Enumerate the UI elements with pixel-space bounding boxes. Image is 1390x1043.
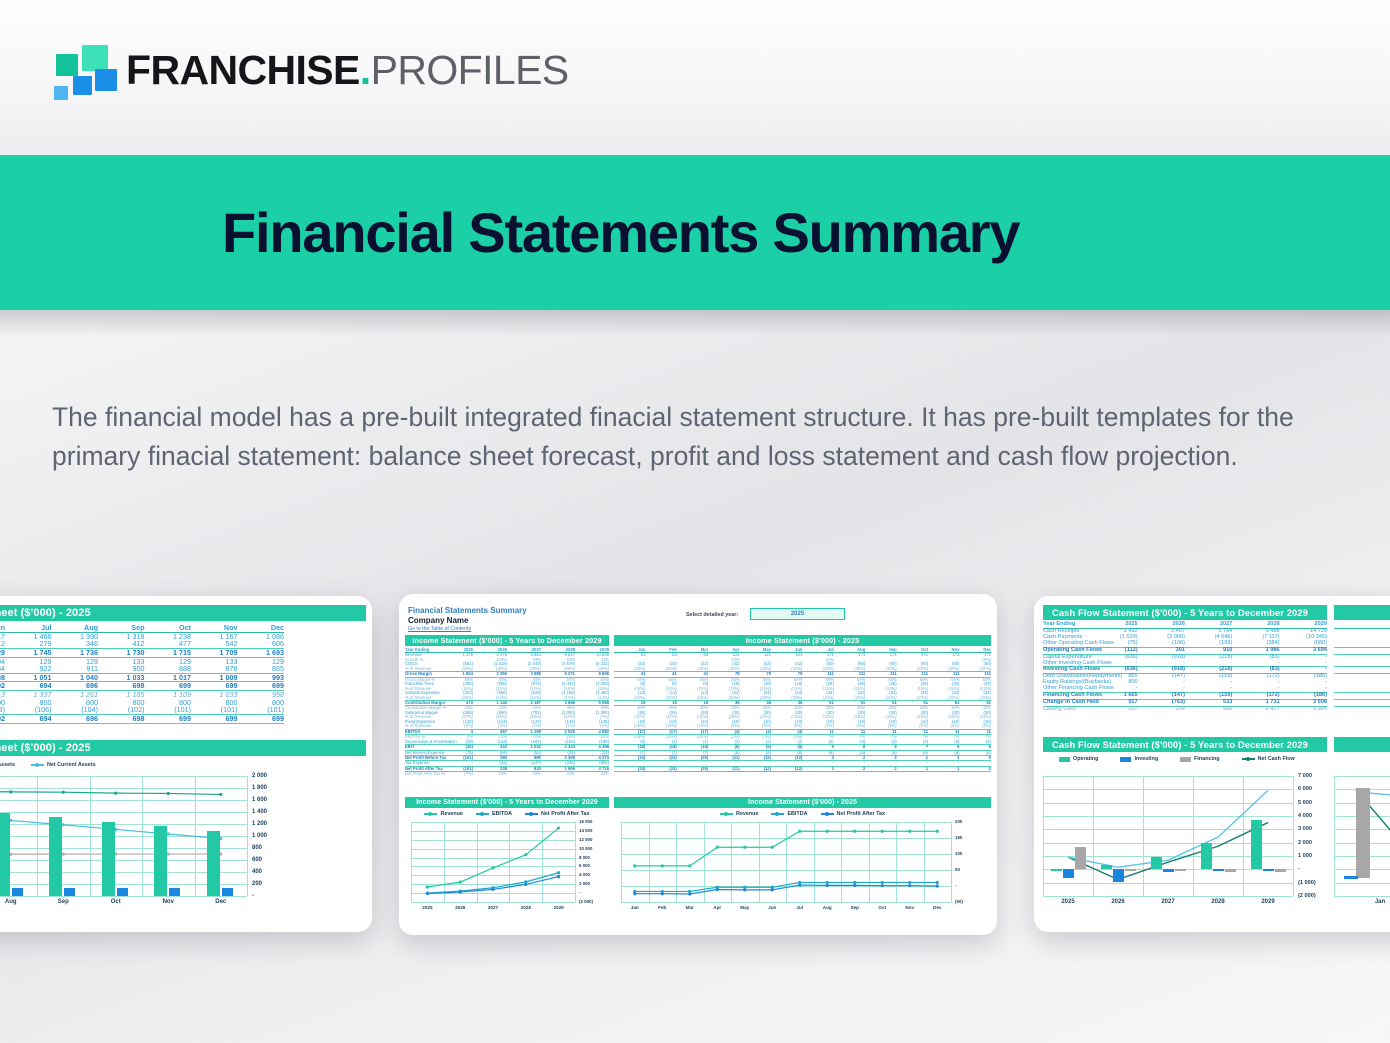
cash-flow-jan-table[interactable]: Jan 32(47)(7)(22)(36)-(36)989800-1 7891 … [1334,622,1390,713]
axis-tick-label: 600 [252,857,262,863]
legend-swatch [1120,757,1131,762]
axis-tick-label: May [731,905,759,910]
legend-item: Net Cash Flow [1242,756,1295,762]
balance-sheet-legend: Current LiabilitiesTotal AssetsNet Asset… [0,762,272,768]
legend-swatch [424,813,437,815]
chart-bar [1125,869,1136,871]
column-header: Oct [145,624,192,632]
legend-label: Revenue [736,811,758,817]
chart-bar [1063,869,1074,877]
income-5yr-chart-plot[interactable] [411,822,575,902]
axis-tick-label: 4 000 [1298,813,1312,819]
column-header: Jul [5,624,52,632]
title-band: Financial Statements Summary [0,155,1390,310]
income-monthly-table-title: Income Statement ($'000) - 2025 [614,635,991,646]
table-cell: (24) [614,766,645,771]
axis-tick-label: 1 600 [252,797,267,803]
chart-bar [1151,857,1162,869]
chart-bar [1263,869,1274,871]
table-row[interactable]: (22) [1334,647,1390,654]
income-monthly-table[interactable]: JanFebMarAprMayJunJulAugSepOctNovDec 636… [614,648,991,772]
table-cell: (36) [1334,667,1390,674]
income-5yr-table[interactable]: Year Ending20252026202720282029 Revenue1… [405,648,609,777]
axis-tick-label: 50 [955,867,960,872]
legend-swatch [771,813,784,815]
axis-tick-label: Apr [704,905,732,910]
cash-flow-title-filler [1334,605,1390,620]
legend-swatch [31,764,44,766]
table-cell: 2 [865,766,896,771]
chart-bar [117,888,128,896]
chart-bar [0,813,10,896]
gridline [1043,896,1293,897]
cash-flow-chart-title-filler [1334,737,1390,752]
axis-tick-label: 2025 [1043,899,1093,905]
chart-bar [1175,869,1186,871]
legend-item: EBITDA [476,811,512,817]
axis-tick-label: - [955,883,956,888]
legend-item: Revenue [424,811,462,817]
axis-tick-label: Mar [676,905,704,910]
table-row[interactable]: 1 789 [1334,693,1390,700]
axis-tick-label: Oct [90,899,143,905]
cash-flow-jan-chart-plot[interactable] [1334,776,1390,896]
year-selector-label: Select detailed year: [686,612,738,618]
axis-tick-label: 2028 [509,905,542,910]
table-cell: 698 [98,714,145,723]
table-cell: 1 715 [145,648,192,657]
gridline [1334,896,1390,897]
chart-bar [1213,869,1224,871]
table-cell: 1 709 [191,648,238,657]
axis-tick-label: 16 000 [579,819,592,824]
gridline [951,822,952,902]
axis-tick-label: 1 000 [1298,853,1312,859]
axis-tick-label: Jul [786,905,814,910]
brand-name-light: PROFILES [371,47,569,93]
table-cell: 699 [191,714,238,723]
table-row[interactable]: 1 7491 7291 7451 7361 7301 7151 7091 693 [0,648,284,657]
table-cell: 15% [507,772,541,777]
brand-wordmark: FRANCHISE.PROFILES [126,50,569,91]
table-cell: 1 736 [52,648,99,657]
axis-tick-label: 200 [955,819,962,824]
table-cell: 1 789 [1334,693,1390,700]
table-row[interactable]: Closing Cash9171546862 4175 925 [1043,706,1327,712]
table-cell: 0 [959,766,991,771]
axis-tick-label: 6 000 [579,863,590,868]
legend-label: Net Assets [0,762,15,768]
table-cell: 3 694 [1280,647,1327,654]
legend-label: Operating [1073,756,1098,762]
legend-swatch [821,813,834,815]
legend-item: Revenue [720,811,758,817]
axis-tick-label: 3 000 [1298,826,1312,832]
axis-tick-label: (1 000) [1298,880,1316,886]
legend-swatch [1180,757,1191,762]
axis-tick-label: Feb [649,905,677,910]
axis-tick-label: 10 000 [579,846,592,851]
table-cell: 154 [1138,706,1185,712]
axis-tick-label: 1 200 [252,821,267,827]
axis-tick-label: Nov [896,905,924,910]
chart-bar [1251,820,1262,869]
table-cell: 694 [5,714,52,723]
balance-sheet-table[interactable]: MayJunJulAugSepOctNovDec 1 5711 5171 466… [0,624,284,724]
cash-flow-chart-title: Cash Flow Statement ($'000) - 5 Years to… [1043,737,1327,752]
income-monthly-chart-title: Income Statement ($'000) - 2025 [614,797,991,808]
column-header: Aug [52,624,99,632]
table-row[interactable]: (36) [1334,667,1390,674]
brand-name-dot: . [360,47,371,93]
balance-sheet-chart-title: Balance Sheet ($'000) - 2025 [0,740,366,756]
chart-bar [1275,869,1286,871]
axis-tick-label: 2 000 [252,773,267,779]
axis-tick-label: 800 [252,845,262,851]
column-header: Dec [238,624,285,632]
axis-tick-label: 2027 [477,905,510,910]
axis-tick-label: 14 000 [579,828,592,833]
year-selector-input[interactable]: 2025 [750,608,845,620]
axis-tick-label: 2026 [1093,899,1143,905]
axis-tick-label: 7 000 [1298,773,1312,779]
axis-tick-label: Sep [37,899,90,905]
axis-tick-label: 6 000 [1298,786,1312,792]
chart-bar [12,888,23,896]
axis-tick-label: Dec [195,899,248,905]
table-cell: 1 730 [98,648,145,657]
axis-tick-label: Aug [814,905,842,910]
legend-label: Net Profit After Tax [837,811,886,817]
legend-item: Net Assets [0,762,15,768]
legend-label: EBITDA [492,811,512,817]
legend-item: Investing [1120,756,1158,762]
chart-bar [1113,869,1124,881]
cash-flow-table[interactable]: Year Ending20252026202720282029 Cash Rec… [1043,622,1327,713]
table-cell: 3 [802,766,833,771]
legend-label: Net Profit After Tax [541,811,590,817]
table-header-row: MayJunJulAugSepOctNovDec [0,624,284,632]
axis-tick-label: (50) [955,899,963,904]
gridline [247,776,248,896]
table-cell: 692 [0,714,5,723]
income-statement-screenshot-card[interactable]: Financial Statements Summary Company Nam… [399,594,997,935]
chart-bar [1356,788,1370,878]
table-cell: 1 729 [0,648,5,657]
axis-tick-label: 400 [252,869,262,875]
chart-bar [1225,869,1236,871]
table-cell: 2 [834,766,865,771]
axis-tick-label: 2029 [542,905,575,910]
chart-series-line [411,822,575,902]
axis-tick-label: Oct [869,905,897,910]
legend-item: Operating [1059,756,1098,762]
axis-tick-label: Jun [759,905,787,910]
axis-tick-label: Sep [841,905,869,910]
table-cell: 5 925 [1280,706,1327,712]
legend-label: Revenue [440,811,462,817]
axis-tick-label: 1 400 [252,809,267,815]
gridline [1293,776,1294,896]
axis-tick-label: 4 000 [579,872,590,877]
squares-mark-icon [48,44,110,96]
axis-tick-label: 1 000 [252,833,267,839]
table-cell: 1 693 [238,648,285,657]
company-name: Company Name [408,616,468,625]
table-cell: 10% [473,772,507,777]
row-label: Net Profit After Tax % [405,772,439,777]
table-cell: 696 [52,714,99,723]
legend-item: Net Profit After Tax [525,811,590,817]
table-cell: 699 [145,714,192,723]
table-cell: (24) [645,766,676,771]
legend-item: Net Current Assets [31,762,96,768]
axis-tick-label: 200 [252,881,262,887]
table-cell: (12) [740,766,771,771]
chart-bar [64,888,75,896]
axis-tick-label: 2 000 [1298,840,1312,846]
axis-tick-label: Jan [621,905,649,910]
table-row[interactable]: Change in Cash Held917(763)5331 7313 508 [1043,700,1327,707]
axis-tick-label: (2 000) [579,899,593,904]
chart-bar [1201,843,1212,869]
cash-flow-chart-plot[interactable] [1043,776,1293,896]
income-5yr-table-title: Income Statement ($'000) - 5 Years to De… [405,635,609,646]
table-cell: 699 [238,714,285,723]
column-header: Sep [98,624,145,632]
table-cell: 1 745 [5,648,52,657]
cash-flow-screenshot-card[interactable]: Cash Flow Statement ($'000) - 5 Years to… [1034,596,1390,932]
table-cell: 1 731 [1334,700,1390,707]
axis-tick-label: Jan [1334,899,1390,905]
brand-name-bold: FRANCHISE [126,47,360,93]
table-cell: (22) [1334,647,1390,654]
table-row[interactable]: (24)(24)(25)(11)(12)(12)322110 [614,766,991,771]
table-cell: 23% [541,772,575,777]
axis-tick-label: 5 000 [1298,800,1312,806]
axis-tick-label: 2 000 [579,881,590,886]
table-cell: 917 [1090,706,1137,712]
legend-swatch [525,813,538,815]
income-monthly-legend: RevenueEBITDANet Profit After Tax [614,811,991,817]
chart-bar [1101,865,1112,869]
chart-bar [1344,876,1358,879]
axis-tick-label: Aug [0,899,37,905]
income-5yr-legend: RevenueEBITDANet Profit After Tax [405,811,609,817]
axis-tick-label: 12 000 [579,837,592,842]
axis-tick-label: - [579,890,580,895]
axis-tick-label: 1 800 [252,785,267,791]
axis-tick-label: Nov [142,899,195,905]
axis-tick-label: (2 000) [1298,893,1316,899]
chart-bar [1051,869,1062,871]
chart-bar [1163,869,1174,872]
row-label: Closing Cash [1043,706,1090,712]
gridline [411,902,575,903]
legend-swatch [476,813,489,815]
legend-swatch [720,813,733,815]
legend-swatch [1242,758,1255,760]
workbook-title: Financial Statements Summary [408,606,527,615]
axis-tick-label: 150 [955,835,962,840]
table-row[interactable]: 1 731 [1334,706,1390,712]
table-cell: 686 [1185,706,1232,712]
table-cell: 1 [928,766,959,771]
chart-bar [207,831,220,896]
income-5yr-chart-title: Income Statement ($'000) - 5 Years to De… [405,797,609,808]
axis-tick-label: 8 000 [579,855,590,860]
legend-swatch [1059,757,1070,762]
legend-label: Financing [1194,756,1219,762]
table-row[interactable]: 703692694696698699699699 [0,714,284,723]
legend-item: Net Profit After Tax [821,811,886,817]
table-cell: 1 [897,766,928,771]
axis-tick-label: - [252,893,254,899]
logo-bar: FRANCHISE.PROFILES [0,0,1390,155]
balance-sheet-table-title: Balance Sheet ($'000) - 2025 [0,605,366,621]
table-cell: 1 731 [1334,706,1390,712]
intro-paragraph: The financial model has a pre-built inte… [52,398,1337,476]
table-cell: 25% [575,772,609,777]
balance-sheet-chart-plot[interactable] [0,776,247,896]
chart-series-line [621,822,951,902]
axis-tick-label: 2027 [1143,899,1193,905]
axis-tick-label: 100 [955,851,962,856]
table-of-contents-link[interactable]: Go to the Table of Contents [408,626,471,632]
page-title: Financial Statements Summary [222,205,1019,261]
gridline [621,902,951,903]
legend-label: Investing [1134,756,1158,762]
axis-tick-label: 2026 [444,905,477,910]
legend-label: Net Cash Flow [1258,756,1295,762]
table-cell: (11) [708,766,739,771]
legend-item: Financing [1180,756,1219,762]
table-cell: 2 417 [1232,706,1279,712]
axis-tick-label: 2025 [411,905,444,910]
income-monthly-chart-plot[interactable] [621,822,951,902]
brand-logo: FRANCHISE.PROFILES [48,44,569,96]
table-row[interactable]: 1 731 [1334,700,1390,707]
axis-tick-label: 2028 [1193,899,1243,905]
legend-item: EBITDA [771,811,807,817]
legend-label: Net Current Assets [47,762,96,768]
chart-bar [49,817,62,896]
cash-flow-table-title: Cash Flow Statement ($'000) - 5 Years to… [1043,605,1327,620]
table-cell: (12) [771,766,802,771]
chart-bar [1075,847,1086,869]
legend-label: EBITDA [787,811,807,817]
chart-bar [154,826,167,896]
axis-tick-label: - [1298,866,1300,872]
gridline [575,822,576,902]
gridline [0,896,247,897]
column-header: Nov [191,624,238,632]
axis-tick-label: 2029 [1243,899,1293,905]
axis-tick-label: Dec [924,905,952,910]
table-cell: (25) [677,766,708,771]
balance-sheet-screenshot-card[interactable]: Balance Sheet ($'000) - 2025 MayJunJulAu… [0,596,372,932]
chart-bar [222,888,233,896]
chart-bar [169,888,180,896]
table-row[interactable]: Net Profit After Tax %(7%)10%15%23%25% [405,772,609,777]
chart-bar [102,822,115,896]
column-header: Jun [0,624,5,632]
